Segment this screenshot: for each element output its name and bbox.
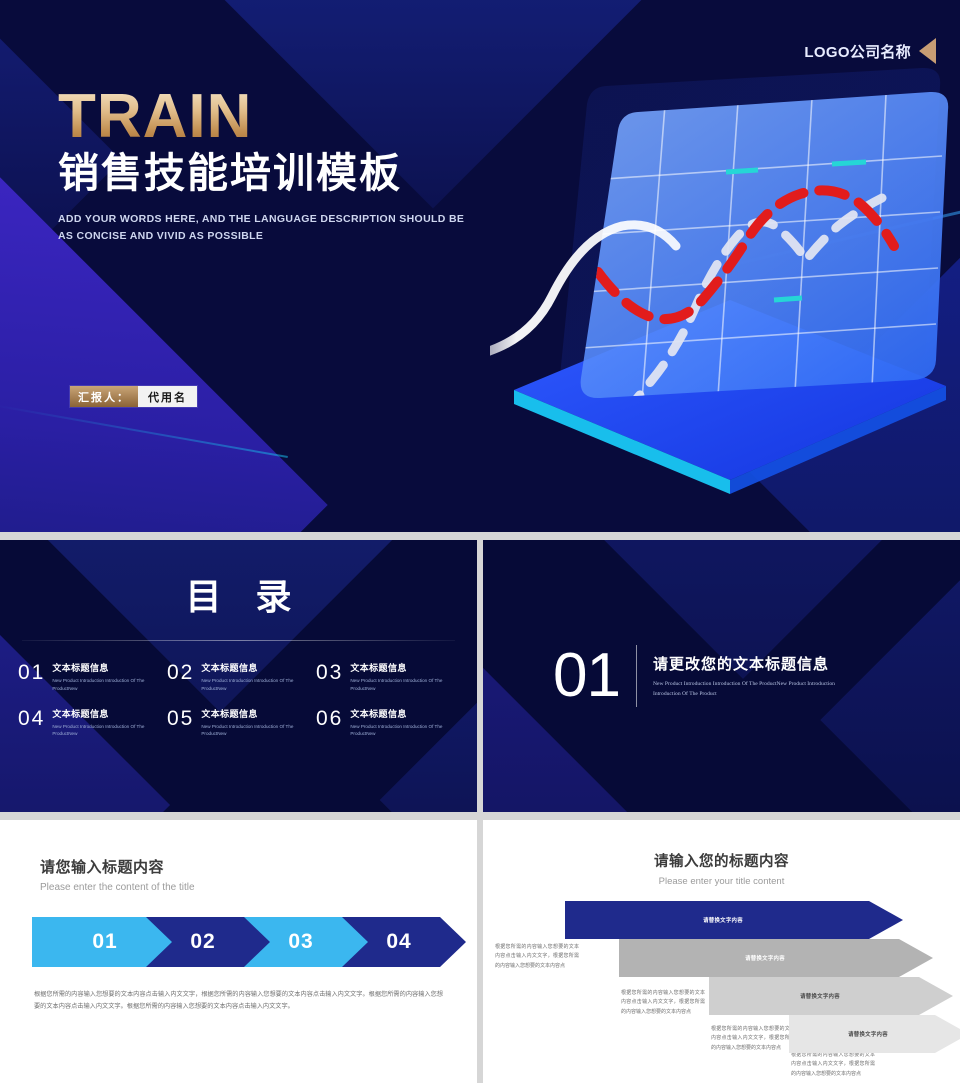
stair-bar-1[interactable]: 请替换文字内容 — [565, 901, 903, 939]
title-en: TRAIN — [58, 88, 478, 147]
stair-desc-3: 根据您所需的内容输入您想要的文本内容点击输入内文文字，根据您所需的内容输入您想要… — [711, 1025, 795, 1053]
stair-subtitle: Please enter your title content — [483, 876, 960, 887]
toc-item-title: 文本标题信息 — [350, 707, 461, 720]
stair-bar-4[interactable]: 请替换文字内容 — [789, 1015, 960, 1053]
chevron-paragraph: 根据您所需的内容输入您想要的文本内容点击输入内文文字，根据您所需的内容输入您想要… — [34, 989, 443, 1014]
toc-item-number: 04 — [18, 707, 45, 729]
toc-item-desc: New Product Introduction Introduction Of… — [52, 677, 163, 693]
chevron-step-label: 04 — [386, 930, 411, 954]
toc-item-05[interactable]: 05 文本标题信息 New Product Introduction Intro… — [167, 707, 312, 739]
chevron-step-label: 02 — [190, 930, 215, 954]
toc-item-06[interactable]: 06 文本标题信息 New Product Introduction Intro… — [316, 707, 461, 739]
chevron-step-label: 03 — [288, 930, 313, 954]
slide-row-3: 请您输入标题内容 Please enter the content of the… — [0, 820, 960, 1083]
company-logo[interactable]: LOGO公司名称 — [804, 38, 936, 64]
stair-desc-2: 根据您所需的内容输入您想要的文本内容点击输入内文文字，根据您所需的内容输入您想要… — [621, 989, 705, 1017]
stair-bar-label: 请替换文字内容 — [703, 916, 743, 924]
reporter-label: 汇报人： — [70, 386, 138, 407]
toc-item-02[interactable]: 02 文本标题信息 New Product Introduction Intro… — [167, 661, 312, 693]
stair-bar-label: 请替换文字内容 — [800, 992, 840, 1000]
toc-item-03[interactable]: 03 文本标题信息 New Product Introduction Intro… — [316, 661, 461, 693]
chevron-title: 请您输入标题内容 — [40, 856, 477, 877]
toc-item-desc: New Product Introduction Introduction Of… — [201, 723, 312, 739]
title-cn: 销售技能培训模板 — [58, 151, 478, 197]
toc-item-desc: New Product Introduction Introduction Of… — [350, 677, 461, 693]
toc-item-number: 02 — [167, 661, 194, 683]
toc-item-number: 03 — [316, 661, 343, 683]
stair-title: 请输入您的标题内容 — [483, 850, 960, 871]
stair-desc-1: 根据您所需的内容输入您想要的文本内容点击输入内文文字，根据您所需的内容输入您想要… — [495, 943, 579, 971]
slide-process-chevrons[interactable]: 请您输入标题内容 Please enter the content of the… — [0, 820, 477, 1083]
toc-item-desc: New Product Introduction Introduction Of… — [201, 677, 312, 693]
toc-item-01[interactable]: 01 文本标题信息 New Product Introduction Intro… — [18, 661, 163, 693]
toc-item-title: 文本标题信息 — [350, 661, 461, 674]
slide-section-divider[interactable]: 01 请更改您的文本标题信息 New Product Introduction … — [483, 540, 960, 812]
slide-table-of-contents[interactable]: 目 录 01 文本标题信息 New Product Introduction I… — [0, 540, 477, 812]
toc-item-number: 05 — [167, 707, 194, 729]
toc-heading: 目 录 — [0, 540, 477, 620]
section-vertical-divider — [636, 645, 637, 707]
stair-bar-label: 请替换文字内容 — [745, 954, 785, 962]
section-number: 01 — [553, 645, 620, 707]
toc-item-title: 文本标题信息 — [201, 661, 312, 674]
title-block: TRAIN 销售技能培训模板 ADD YOUR WORDS HERE, AND … — [58, 88, 478, 245]
triangle-left-icon — [919, 38, 936, 64]
chevron-subtitle: Please enter the content of the title — [40, 882, 477, 893]
chevron-step-label: 01 — [92, 930, 117, 954]
slide-title[interactable]: LOGO公司名称 TRAIN 销售技能培训模板 ADD YOUR WORDS H… — [0, 0, 960, 532]
toc-item-title: 文本标题信息 — [201, 707, 312, 720]
chevron-header: 请您输入标题内容 Please enter the content of the… — [0, 820, 477, 893]
slide-staircase-arrows[interactable]: 请输入您的标题内容 Please enter your title conten… — [483, 820, 960, 1083]
stair-bar-2[interactable]: 请替换文字内容 — [619, 939, 933, 977]
reporter-name: 代用名 — [138, 386, 197, 407]
slide-deck: LOGO公司名称 TRAIN 销售技能培训模板 ADD YOUR WORDS H… — [0, 0, 960, 1083]
stair-bar-label: 请替换文字内容 — [848, 1030, 888, 1038]
isometric-chart-illustration — [490, 60, 960, 500]
section-title: 请更改您的文本标题信息 — [653, 653, 863, 674]
stair-bar-3[interactable]: 请替换文字内容 — [709, 977, 953, 1015]
toc-item-04[interactable]: 04 文本标题信息 New Product Introduction Intro… — [18, 707, 163, 739]
section-desc: New Product Introduction Introduction Of… — [653, 679, 863, 699]
toc-item-desc: New Product Introduction Introduction Of… — [52, 723, 163, 739]
toc-item-title: 文本标题信息 — [52, 661, 163, 674]
toc-item-number: 01 — [18, 661, 45, 683]
chevron-row: 01 02 03 04 — [32, 917, 442, 967]
reporter-badge: 汇报人： 代用名 — [70, 386, 197, 407]
slide-row-2: 目 录 01 文本标题信息 New Product Introduction I… — [0, 540, 960, 812]
stair-desc-4: 根据您所需的内容输入您想要的文本内容点击输入内文文字，根据您所需的内容输入您想要… — [791, 1051, 875, 1079]
toc-item-number: 06 — [316, 707, 343, 729]
section-content: 01 请更改您的文本标题信息 New Product Introduction … — [483, 540, 960, 812]
logo-label: LOGO公司名称 — [804, 41, 911, 62]
chevron-step-01[interactable]: 01 — [32, 917, 172, 967]
stair-diagram: 请替换文字内容 请替换文字内容 请替换文字内容 请替换文字内容 根据您所需的内容… — [483, 901, 960, 1081]
toc-item-title: 文本标题信息 — [52, 707, 163, 720]
toc-item-desc: New Product Introduction Introduction Of… — [350, 723, 461, 739]
stair-header: 请输入您的标题内容 Please enter your title conten… — [483, 820, 960, 887]
toc-list: 01 文本标题信息 New Product Introduction Intro… — [0, 641, 477, 738]
title-subtitle: ADD YOUR WORDS HERE, AND THE LANGUAGE DE… — [58, 211, 478, 246]
